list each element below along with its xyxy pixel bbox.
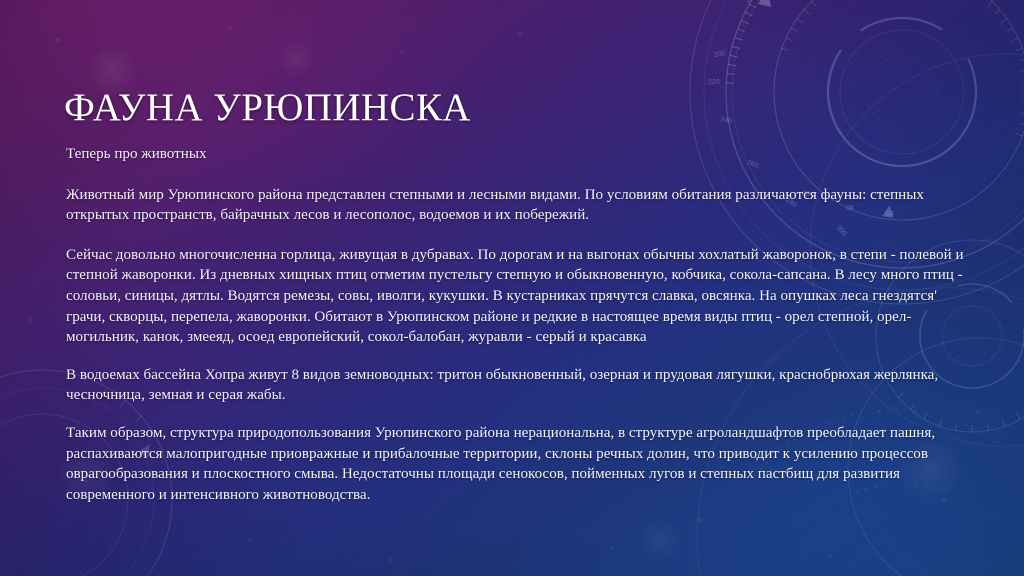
page-title: ФАУНА УРЮПИНСКА [64,88,471,129]
slide-content: ФАУНА УРЮПИНСКА Теперь про животных Живо… [64,0,964,576]
paragraph-conclusion: Таким образом, структура природопользова… [66,423,966,505]
paragraph-amphibians: В водоемах бассейна Хопра живут 8 видов … [66,365,966,406]
presentation-slide: 200 220 240 260 280 300 160 140 120 100 … [0,0,1024,576]
slide-subtitle: Теперь про животных [66,144,966,165]
paragraph-intro: Животный мир Урюпинского района представ… [66,185,966,226]
paragraph-birds: Сейчас довольно многочисленна горлица, ж… [66,245,966,348]
slide-body: Теперь про животных Животный мир Урюпинс… [66,144,966,505]
